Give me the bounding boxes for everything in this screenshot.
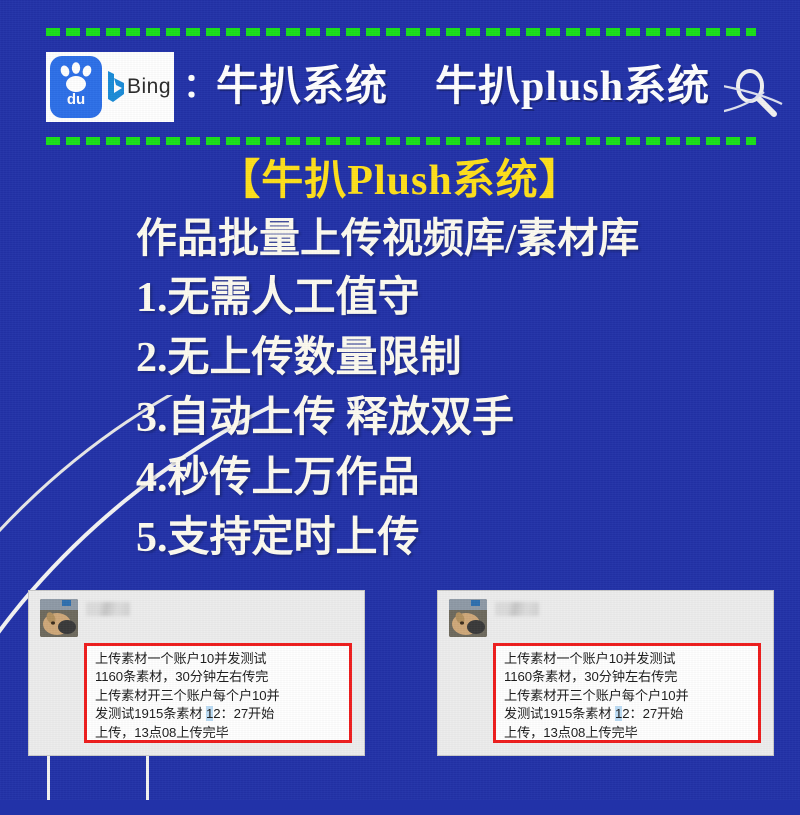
baidu-logo[interactable]: du (50, 56, 102, 118)
message-line: 1160条素材，30分钟左右传完 (95, 668, 343, 686)
sender-name-redacted (495, 602, 539, 616)
message-line: 上传素材一个账户10并发测试 (95, 650, 343, 668)
dog-photo-avatar-icon (449, 599, 487, 637)
header-title-left: 牛扒系统 (216, 52, 388, 113)
header-separator: ： (183, 58, 217, 107)
sender-name-redacted (86, 602, 130, 616)
avatar[interactable] (40, 599, 78, 637)
header: du Bing ： 牛扒系统 牛扒plush系统 (0, 48, 800, 128)
message-line: 上传素材一个账户10并发测试 (504, 650, 752, 668)
divider-top-dashed (46, 28, 756, 36)
chat-header (449, 599, 539, 637)
chat-screenshot-left[interactable]: 上传素材一个账户10并发测试 1160条素材，30分钟左右传完 上传素材开三个账… (28, 590, 365, 756)
header-title-right: 牛扒plush系统 (435, 52, 710, 113)
chat-screenshot-right[interactable]: 上传素材一个账户10并发测试 1160条素材，30分钟左右传完 上传素材开三个账… (437, 590, 774, 756)
feature-item-3: 3.自动上传 释放双手 (136, 388, 776, 448)
message-line: 上传素材开三个账户每个户10并 (504, 687, 752, 705)
feature-item-1: 1.无需人工值守 (136, 268, 776, 328)
decorative-vline-2 (146, 756, 149, 800)
baidu-paw-icon: du (56, 62, 96, 112)
bing-logo[interactable]: Bing (102, 54, 174, 120)
divider-middle-dashed (46, 137, 756, 145)
message-bubble: 上传素材一个账户10并发测试 1160条素材，30分钟左右传完 上传素材开三个账… (493, 643, 761, 743)
feature-lead: 作品批量上传视频库/素材库 (136, 208, 776, 268)
banner-title: 【牛扒Plush系统】 (0, 146, 800, 207)
message-line: 发测试1915条素材 12：27开始 (95, 705, 343, 723)
message-line: 上传，13点08上传完毕 (504, 724, 752, 742)
chat-header (40, 599, 130, 637)
message-bubble: 上传素材一个账户10并发测试 1160条素材，30分钟左右传完 上传素材开三个账… (84, 643, 352, 743)
feature-item-5: 5.支持定时上传 (136, 508, 776, 568)
feature-item-2: 2.无上传数量限制 (136, 328, 776, 388)
bing-mark-icon (105, 69, 125, 105)
dog-photo-avatar-icon (40, 599, 78, 637)
feature-item-4: 4.秒传上万作品 (136, 448, 776, 508)
avatar[interactable] (449, 599, 487, 637)
decorative-vline-1 (47, 756, 50, 800)
magnifier-icon[interactable] (724, 64, 784, 126)
message-line: 1160条素材，30分钟左右传完 (504, 668, 752, 686)
message-line: 上传，13点08上传完毕 (95, 724, 343, 742)
message-line: 上传素材开三个账户每个户10并 (95, 687, 343, 705)
svg-text:du: du (67, 91, 85, 108)
message-line: 发测试1915条素材 12：27开始 (504, 705, 752, 723)
bing-label: Bing (127, 75, 171, 99)
search-engine-logos: du Bing (46, 52, 174, 122)
feature-list: 作品批量上传视频库/素材库 1.无需人工值守 2.无上传数量限制 3.自动上传 … (136, 208, 776, 568)
